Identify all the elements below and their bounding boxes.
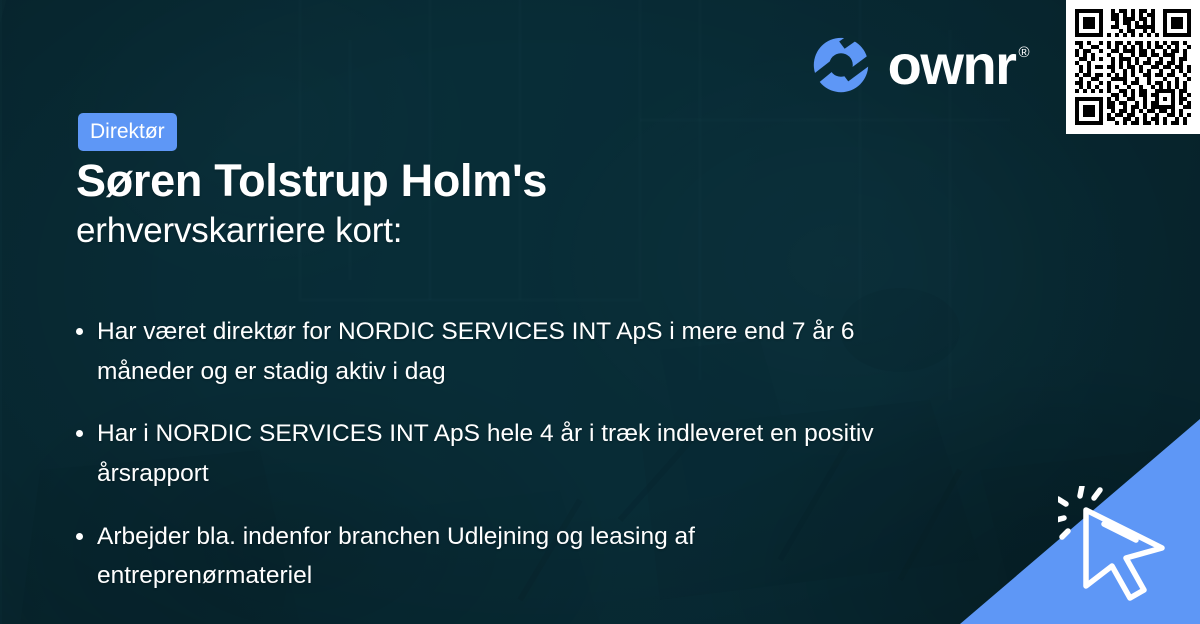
list-item-text: Har været direktør for NORDIC SERVICES I… [97, 312, 906, 391]
registered-trademark-symbol: ® [1018, 45, 1028, 60]
ownr-wordmark: ownr ® [888, 41, 1028, 89]
ownr-circle-logo-icon [812, 36, 870, 94]
ownr-wordmark-text: ownr [888, 41, 1016, 89]
bullet-dot-icon [76, 533, 83, 540]
page-subtitle: erhvervskarriere kort: [76, 210, 402, 252]
bullet-dot-icon [76, 430, 83, 437]
qr-code[interactable] [1066, 0, 1200, 134]
business-profile-card: ownr ® Direktør Søren Tolstrup Holm's er… [0, 0, 1200, 624]
page-title: Søren Tolstrup Holm's [76, 154, 547, 207]
ownr-logo[interactable]: ownr ® [812, 36, 1028, 94]
click-cursor-icon [1058, 486, 1178, 606]
career-highlights-list: Har været direktør for NORDIC SERVICES I… [76, 312, 906, 596]
list-item-text: Arbejder bla. indenfor branchen Udlejnin… [97, 517, 906, 596]
qr-code-image [1075, 9, 1191, 125]
list-item: Arbejder bla. indenfor branchen Udlejnin… [76, 517, 906, 596]
bullet-dot-icon [76, 328, 83, 335]
list-item: Har været direktør for NORDIC SERVICES I… [76, 312, 906, 391]
list-item: Har i NORDIC SERVICES INT ApS hele 4 år … [76, 414, 906, 493]
list-item-text: Har i NORDIC SERVICES INT ApS hele 4 år … [97, 414, 906, 493]
role-badge: Direktør [78, 113, 177, 151]
